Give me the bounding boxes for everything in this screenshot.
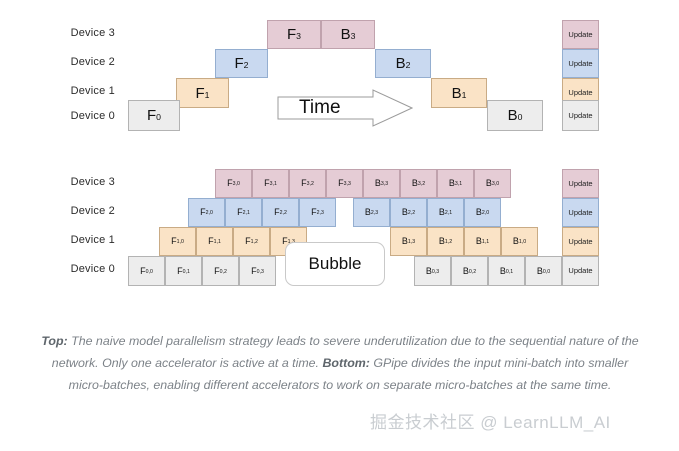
- caption-bottom-bold: Bottom:: [322, 356, 369, 370]
- forward-cell-2-3: F2,3: [299, 198, 336, 227]
- cell-subscript: 2: [244, 61, 249, 70]
- backward-cell-2-2: B2,2: [390, 198, 427, 227]
- cell-subscript: 0,3: [257, 270, 264, 275]
- backward-cell-3-1: B3,1: [437, 169, 474, 198]
- backward-cell-1-2: B1,2: [427, 227, 464, 256]
- update-cell-device-0: Update: [562, 256, 599, 286]
- cell-subscript: 0,2: [469, 270, 476, 275]
- cell-subscript: 1,1: [214, 240, 221, 245]
- forward-cell-3: F3: [267, 20, 321, 49]
- forward-cell-3-1: F3,1: [252, 169, 289, 198]
- cell-subscript: 2,2: [408, 211, 415, 216]
- cell-subscript: 2,2: [280, 211, 287, 216]
- forward-cell-3-3: F3,3: [326, 169, 363, 198]
- caption-top-bold: Top:: [41, 334, 67, 348]
- cell-label: F: [287, 27, 296, 42]
- cell-subscript: 3,3: [381, 182, 388, 187]
- forward-cell-1-1: F1,1: [196, 227, 233, 256]
- backward-cell-2-1: B2,1: [427, 198, 464, 227]
- cell-subscript: 3,2: [418, 182, 425, 187]
- cell-subscript: 1: [205, 91, 210, 100]
- backward-cell-0-3: B0,3: [414, 256, 451, 286]
- cell-label: B: [396, 56, 406, 71]
- forward-cell-1-0: F1,0: [159, 227, 196, 256]
- cell-subscript: 0,3: [432, 270, 439, 275]
- cell-label: Update: [568, 60, 592, 68]
- device-label-device-2: Device 2: [45, 56, 115, 68]
- forward-cell-3-0: F3,0: [215, 169, 252, 198]
- forward-cell-1: F1: [176, 78, 229, 108]
- time-arrow: Time: [277, 89, 413, 127]
- cell-subscript: 1,1: [482, 240, 489, 245]
- cell-subscript: 0,0: [146, 270, 153, 275]
- bubble-box: Bubble: [285, 242, 385, 286]
- cell-label: F: [234, 56, 243, 71]
- update-cell-device-0: Update: [562, 100, 599, 131]
- forward-cell-2-0: F2,0: [188, 198, 225, 227]
- cell-subscript: 2,1: [243, 211, 250, 216]
- cell-subscript: 0: [156, 113, 161, 122]
- backward-cell-2: B2: [375, 49, 431, 78]
- cell-subscript: 0,1: [506, 270, 513, 275]
- forward-cell-0-1: F0,1: [165, 256, 202, 286]
- forward-cell-2: F2: [215, 49, 268, 78]
- forward-cell-0-0: F0,0: [128, 256, 165, 286]
- cell-subscript: 2,1: [445, 211, 452, 216]
- bubble-label: Bubble: [309, 254, 362, 274]
- cell-label: Update: [568, 180, 592, 188]
- cell-label: Update: [568, 267, 592, 275]
- backward-cell-1-0: B1,0: [501, 227, 538, 256]
- backward-cell-1-3: B1,3: [390, 227, 427, 256]
- update-cell-device-2: Update: [562, 198, 599, 227]
- backward-cell-3-2: B3,2: [400, 169, 437, 198]
- figure-canvas: Device 3F3B3UpdateDevice 2F2B2UpdateDevi…: [0, 0, 679, 451]
- backward-cell-0-1: B0,1: [488, 256, 525, 286]
- backward-cell-1-1: B1,1: [464, 227, 501, 256]
- forward-cell-0-3: F0,3: [239, 256, 276, 286]
- cell-subscript: 1,3: [408, 240, 415, 245]
- cell-label: B: [452, 86, 462, 101]
- update-cell-device-3: Update: [562, 20, 599, 49]
- update-cell-device-3: Update: [562, 169, 599, 198]
- cell-subscript: 0: [518, 113, 523, 122]
- cell-label: F: [147, 108, 156, 123]
- device-label-device-1: Device 1: [45, 234, 115, 246]
- cell-subscript: 1,0: [519, 240, 526, 245]
- backward-cell-0-2: B0,2: [451, 256, 488, 286]
- cell-subscript: 0,0: [543, 270, 550, 275]
- forward-cell-3-2: F3,2: [289, 169, 326, 198]
- cell-subscript: 2,0: [206, 211, 213, 216]
- backward-cell-2-3: B2,3: [353, 198, 390, 227]
- cell-subscript: 2,0: [482, 211, 489, 216]
- device-label-device-3: Device 3: [45, 27, 115, 39]
- cell-label: Update: [568, 238, 592, 246]
- cell-label: Update: [568, 89, 592, 97]
- cell-label: Update: [568, 112, 592, 120]
- backward-cell-0: B0: [487, 100, 543, 131]
- device-label-device-3: Device 3: [45, 176, 115, 188]
- backward-cell-3-3: B3,3: [363, 169, 400, 198]
- cell-subscript: 1,2: [251, 240, 258, 245]
- backward-cell-3: B3: [321, 20, 375, 49]
- cell-label: Update: [568, 31, 592, 39]
- cell-subscript: 3,1: [455, 182, 462, 187]
- cell-subscript: 1,2: [445, 240, 452, 245]
- backward-cell-1: B1: [431, 78, 487, 108]
- cell-subscript: 3: [351, 32, 356, 41]
- forward-cell-0: F0: [128, 100, 180, 131]
- device-label-device-0: Device 0: [45, 110, 115, 122]
- cell-subscript: 3: [296, 32, 301, 41]
- cell-subscript: 3,0: [492, 182, 499, 187]
- cell-subscript: 3,2: [307, 182, 314, 187]
- cell-label: B: [508, 108, 518, 123]
- cell-subscript: 0,2: [220, 270, 227, 275]
- cell-subscript: 3,1: [270, 182, 277, 187]
- forward-cell-2-2: F2,2: [262, 198, 299, 227]
- forward-cell-1-2: F1,2: [233, 227, 270, 256]
- forward-cell-0-2: F0,2: [202, 256, 239, 286]
- time-arrow-label: Time: [277, 89, 413, 127]
- forward-cell-2-1: F2,1: [225, 198, 262, 227]
- cell-subscript: 2,3: [371, 211, 378, 216]
- cell-subscript: 1: [462, 91, 467, 100]
- cell-subscript: 1,0: [177, 240, 184, 245]
- backward-cell-3-0: B3,0: [474, 169, 511, 198]
- figure-caption: Top: The naive model parallelism strateg…: [38, 330, 642, 396]
- device-label-device-2: Device 2: [45, 205, 115, 217]
- update-cell-device-1: Update: [562, 227, 599, 256]
- cell-label: Update: [568, 209, 592, 217]
- update-cell-device-2: Update: [562, 49, 599, 78]
- watermark: 掘金技术社区 @ LearnLLM_AI: [370, 408, 670, 433]
- device-label-device-1: Device 1: [45, 85, 115, 97]
- backward-cell-2-0: B2,0: [464, 198, 501, 227]
- cell-label: B: [341, 27, 351, 42]
- cell-subscript: 3,0: [233, 182, 240, 187]
- cell-subscript: 0,1: [183, 270, 190, 275]
- cell-subscript: 2: [406, 61, 411, 70]
- cell-subscript: 3,3: [344, 182, 351, 187]
- backward-cell-0-0: B0,0: [525, 256, 562, 286]
- device-label-device-0: Device 0: [45, 263, 115, 275]
- cell-subscript: 2,3: [317, 211, 324, 216]
- cell-label: F: [195, 86, 204, 101]
